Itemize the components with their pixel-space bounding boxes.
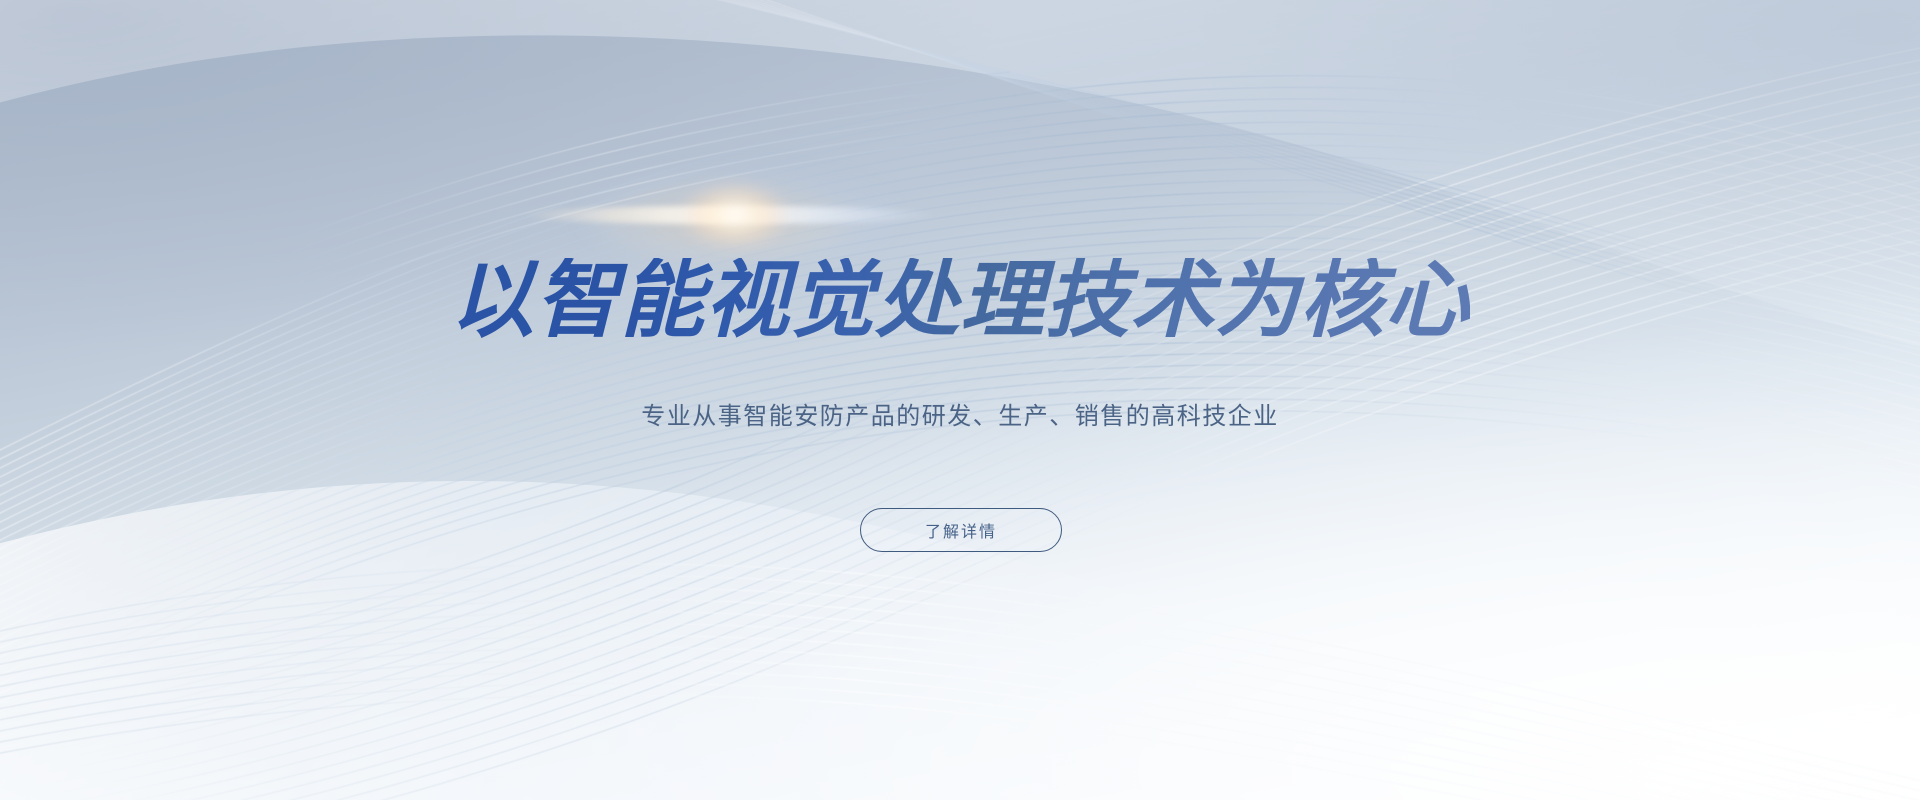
hero-content: 以智能视觉处理技术为核心 专业从事智能安防产品的研发、生产、销售的高科技企业 了… (0, 0, 1920, 800)
learn-more-button-label: 了解详情 (925, 518, 997, 542)
page-title: 以智能视觉处理技术为核心 (450, 258, 1470, 342)
hero-subtitle: 专业从事智能安防产品的研发、生产、销售的高科技企业 (641, 400, 1279, 434)
hero-banner: 以智能视觉处理技术为核心 专业从事智能安防产品的研发、生产、销售的高科技企业 了… (0, 0, 1920, 800)
learn-more-button[interactable]: 了解详情 (860, 508, 1062, 552)
